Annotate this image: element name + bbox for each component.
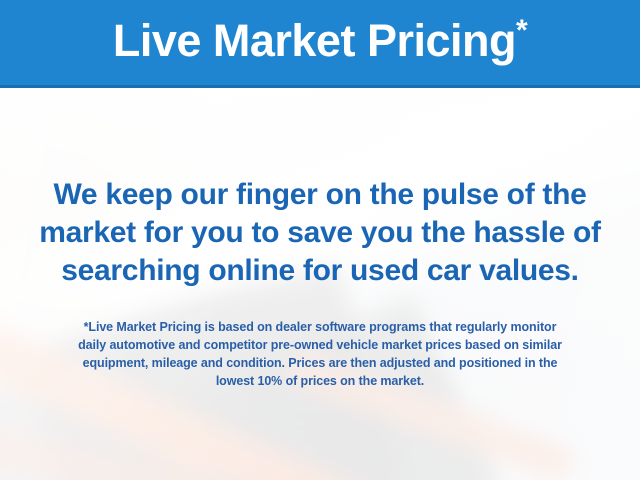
disclaimer-line: equipment, mileage and condition. Prices… xyxy=(0,354,640,372)
disclaimer-line: *Live Market Pricing is based on dealer … xyxy=(0,318,640,336)
disclaimer-line: daily automotive and competitor pre-owne… xyxy=(0,336,640,354)
tagline-line: searching online for used car values. xyxy=(0,252,640,290)
live-market-pricing-banner: Live Market Pricing* We keep our finger … xyxy=(0,0,640,480)
tagline-line: We keep our finger on the pulse of the xyxy=(0,176,640,214)
header-banner: Live Market Pricing* xyxy=(0,0,640,88)
tagline: We keep our finger on the pulse of the m… xyxy=(0,176,640,290)
tagline-line: market for you to save you the hassle of xyxy=(0,214,640,252)
disclaimer: *Live Market Pricing is based on dealer … xyxy=(0,318,640,390)
disclaimer-line: lowest 10% of prices on the market. xyxy=(0,372,640,390)
page-title-text: Live Market Pricing xyxy=(113,15,516,66)
page-title-asterisk: * xyxy=(516,14,527,47)
page-title: Live Market Pricing* xyxy=(113,18,527,67)
